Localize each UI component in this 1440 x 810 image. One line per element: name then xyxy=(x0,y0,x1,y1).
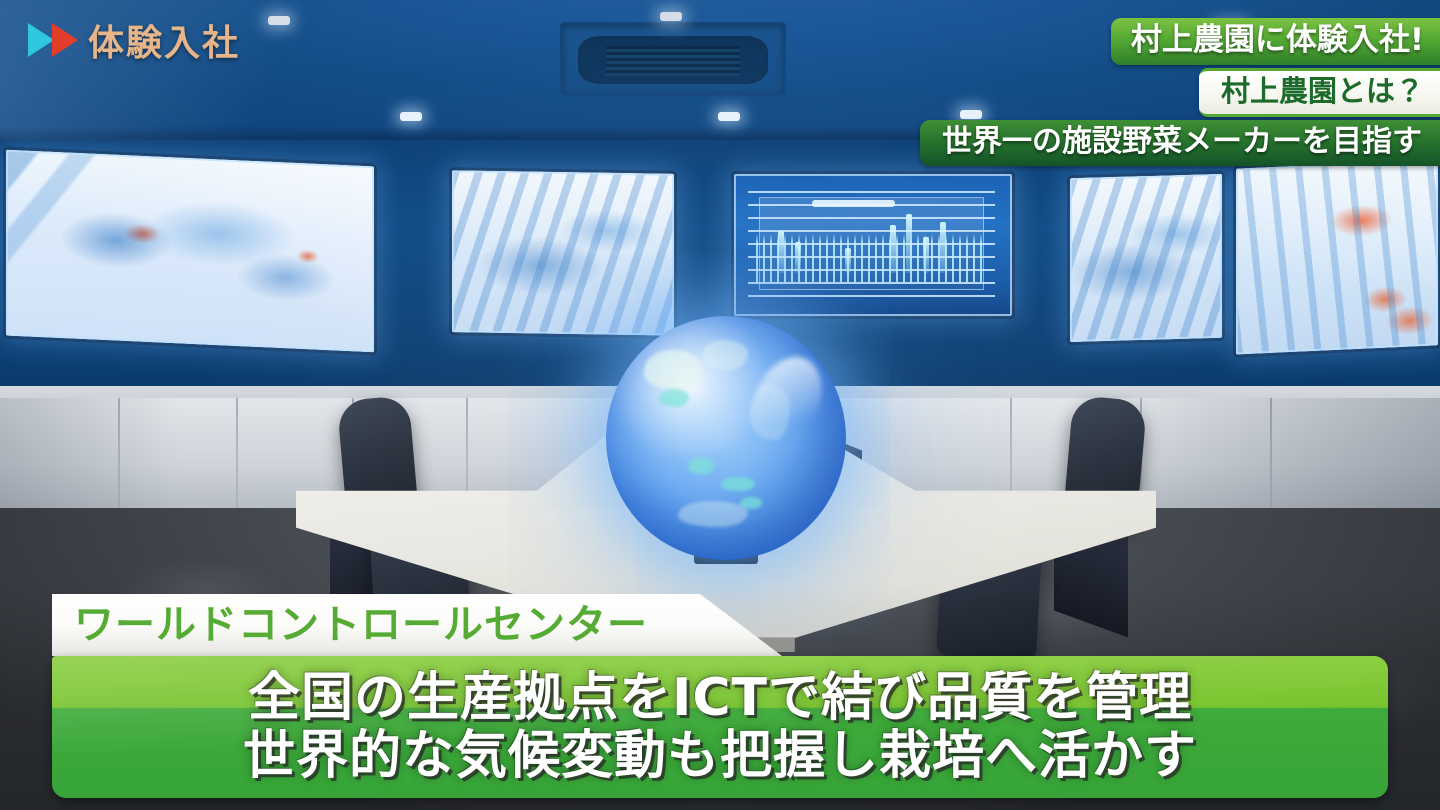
monitor-center xyxy=(734,174,1012,316)
program-logo-text: 体験入社 xyxy=(88,14,240,66)
top-caption-stack: 村上農園に体験入社! 村上農園とは？ 世界一の施設野菜メーカーを目指す xyxy=(920,18,1440,166)
downlight xyxy=(718,112,740,121)
top-caption-3: 世界一の施設野菜メーカーを目指す xyxy=(920,120,1440,166)
play-triangle-red-icon xyxy=(52,23,78,57)
play-triangle-cyan-icon xyxy=(28,23,54,57)
lower-third-title: ワールドコントロールセンター xyxy=(74,605,648,645)
video-frame: 体験入社 村上農園に体験入社! 村上農園とは？ 世界一の施設野菜メーカーを目指す… xyxy=(0,0,1440,810)
lower-third-caption-box: 全国の生産拠点をICTで結び品質を管理 世界的な気候変動も把握し栽培へ活かす xyxy=(52,656,1388,798)
downlight xyxy=(268,16,290,25)
monitor-far-left xyxy=(6,150,374,353)
caption-line-1: 全国の生産拠点をICTで結び品質を管理 xyxy=(248,670,1192,726)
monitor-far-right xyxy=(1236,159,1438,354)
illuminated-globe xyxy=(606,316,846,560)
ceiling-ac-vent-icon xyxy=(560,22,786,96)
top-caption-2: 村上農園とは？ xyxy=(1199,68,1440,117)
lower-third-title-banner: ワールドコントロールセンター xyxy=(52,594,782,656)
downlight xyxy=(400,112,422,121)
caption-line-2: 世界的な気候変動も把握し栽培へ活かす xyxy=(243,728,1197,784)
top-caption-1: 村上農園に体験入社! xyxy=(1111,18,1440,65)
monitor-left xyxy=(452,170,674,335)
downlight xyxy=(660,12,682,21)
monitor-right xyxy=(1070,174,1222,342)
program-logo: 体験入社 xyxy=(28,14,240,66)
